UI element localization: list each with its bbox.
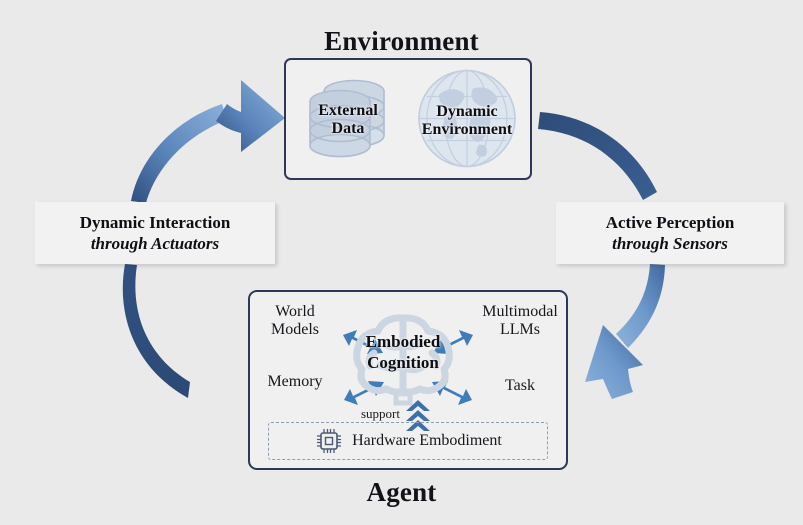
node-line-1: Multimodal [470, 303, 570, 321]
chip-icon [314, 426, 344, 456]
caption-line-2: through Actuators [91, 234, 219, 254]
label-line-1: Embodied [338, 331, 468, 352]
embodied-cognition-node: Embodied Cognition [338, 305, 468, 420]
label-line-1: Dynamic [422, 103, 512, 121]
agent-node-world-models: World Models [260, 303, 330, 340]
environment-title: Environment [0, 26, 803, 57]
node-line-2: LLMs [470, 321, 570, 339]
environment-box: External Data [284, 58, 532, 180]
caption-dynamic-interaction: Dynamic Interaction through Actuators [35, 202, 275, 264]
caption-line-1: Dynamic Interaction [80, 213, 231, 233]
label-line-2: Cognition [338, 352, 468, 373]
hardware-embodiment-label: Hardware Embodiment [352, 432, 502, 450]
label-line-1: External [318, 102, 378, 120]
caption-active-perception: Active Perception through Sensors [556, 202, 784, 264]
node-line-1: Memory [255, 373, 335, 391]
actuator-arrow-tail [123, 264, 190, 398]
environment-item-external-data: External Data [294, 70, 402, 170]
agent-node-memory: Memory [255, 373, 335, 391]
environment-item-label: External Data [318, 102, 378, 139]
caption-line-2: through Sensors [612, 234, 728, 254]
caption-line-1: Active Perception [606, 213, 735, 233]
actuator-arrow-head-curve [131, 80, 285, 203]
label-line-2: Environment [422, 121, 512, 139]
hardware-embodiment-box: Hardware Embodiment [268, 422, 548, 460]
agent-node-task: Task [490, 377, 550, 395]
agent-node-multimodal-llms: Multimodal LLMs [470, 303, 570, 340]
sensor-arrow-head-curve [585, 264, 665, 399]
node-line-1: World [260, 303, 330, 321]
support-label: support [340, 406, 400, 422]
agent-title: Agent [0, 477, 803, 508]
environment-item-dynamic-environment: Dynamic Environment [406, 64, 528, 178]
node-line-1: Task [490, 377, 550, 395]
environment-item-label: Dynamic Environment [422, 103, 512, 140]
diagram-canvas: Environment [0, 0, 803, 525]
label-line-2: Data [318, 120, 378, 138]
node-line-2: Models [260, 321, 330, 339]
embodied-cognition-label: Embodied Cognition [338, 331, 468, 374]
sensor-arrow-tail [538, 112, 657, 200]
